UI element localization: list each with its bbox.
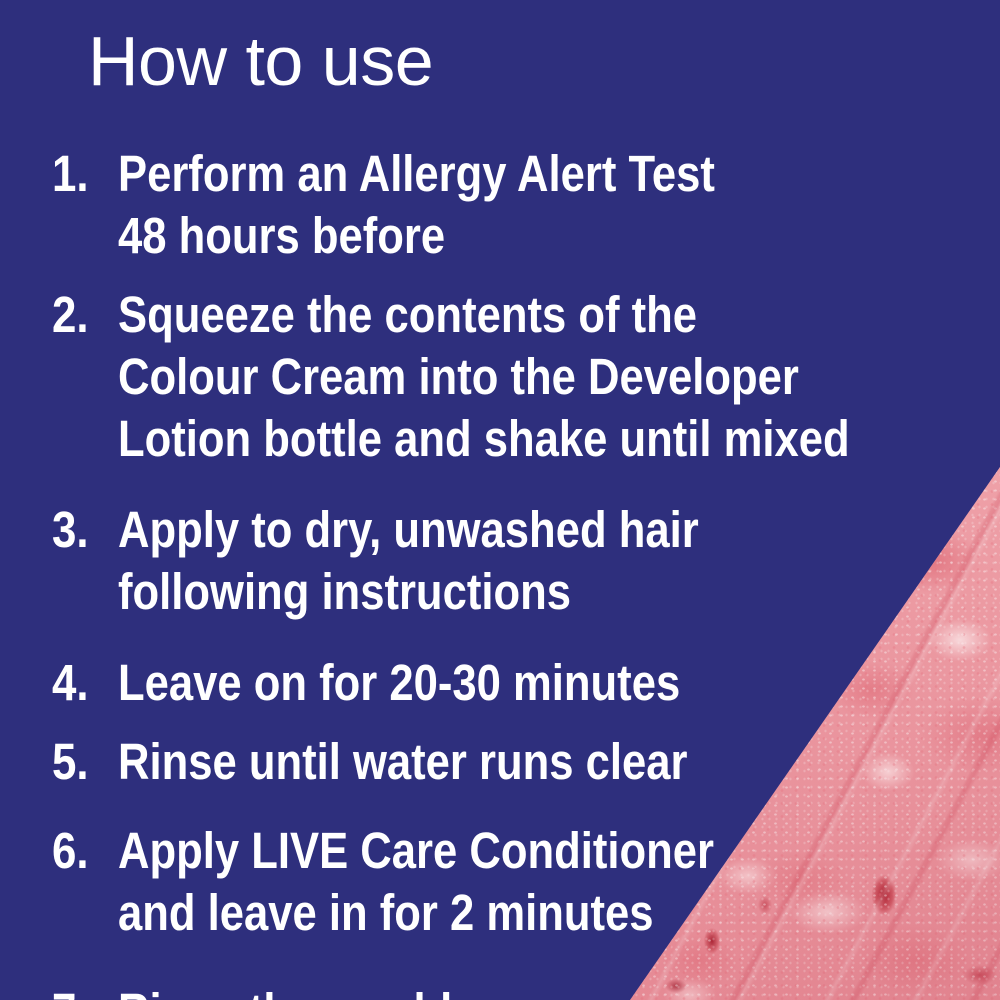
step-text-line: Apply LIVE Care Conditioner [118, 820, 831, 882]
step-text-line: Colour Cream into the Developer [118, 346, 850, 408]
step-text: Rinse until water runs clear [118, 731, 952, 793]
step-number: 7. [52, 981, 109, 1000]
step-item: 3.Apply to dry, unwashed hairfollowing i… [52, 499, 952, 623]
step-text-line: Apply to dry, unwashed hair [118, 499, 831, 561]
step-text: Leave on for 20-30 minutes [118, 652, 952, 714]
step-number: 4. [52, 652, 109, 714]
page-title: How to use [88, 26, 433, 96]
step-text-line: Lotion bottle and shake until mixed [118, 408, 850, 470]
step-text-line: Leave on for 20-30 minutes [118, 652, 831, 714]
step-item: 4.Leave on for 20-30 minutes [52, 652, 952, 714]
step-text-line: Perform an Allergy Alert Test [118, 143, 831, 205]
step-item: 5.Rinse until water runs clear [52, 731, 952, 793]
step-number: 6. [52, 820, 109, 882]
step-number: 5. [52, 731, 109, 793]
step-item: 2.Squeeze the contents of theColour Crea… [52, 284, 952, 470]
step-text-line: Squeeze the contents of the [118, 284, 850, 346]
how-to-use-steps-list: 1.Perform an Allergy Alert Test48 hours … [52, 143, 952, 1000]
step-text: Squeeze the contents of theColour Cream … [118, 284, 974, 470]
step-number: 1. [52, 143, 109, 205]
content-area: How to use 1.Perform an Allergy Alert Te… [0, 0, 1000, 1000]
step-item: 1.Perform an Allergy Alert Test48 hours … [52, 143, 952, 267]
step-text: Apply LIVE Care Conditionerand leave in … [118, 820, 952, 944]
step-text: Apply to dry, unwashed hairfollowing ins… [118, 499, 952, 623]
step-item: 7.Rinse thoroughly [52, 981, 952, 1000]
how-to-use-panel: How to use 1.Perform an Allergy Alert Te… [0, 0, 1000, 1000]
step-text: Rinse thoroughly [118, 981, 952, 1000]
step-text: Perform an Allergy Alert Test48 hours be… [118, 143, 952, 267]
step-number: 2. [52, 284, 109, 346]
step-item: 6.Apply LIVE Care Conditionerand leave i… [52, 820, 952, 944]
step-text-line: 48 hours before [118, 205, 831, 267]
step-text-line: and leave in for 2 minutes [118, 882, 831, 944]
step-text-line: Rinse thoroughly [118, 981, 831, 1000]
step-text-line: following instructions [118, 561, 831, 623]
step-number: 3. [52, 499, 109, 561]
step-text-line: Rinse until water runs clear [118, 731, 831, 793]
